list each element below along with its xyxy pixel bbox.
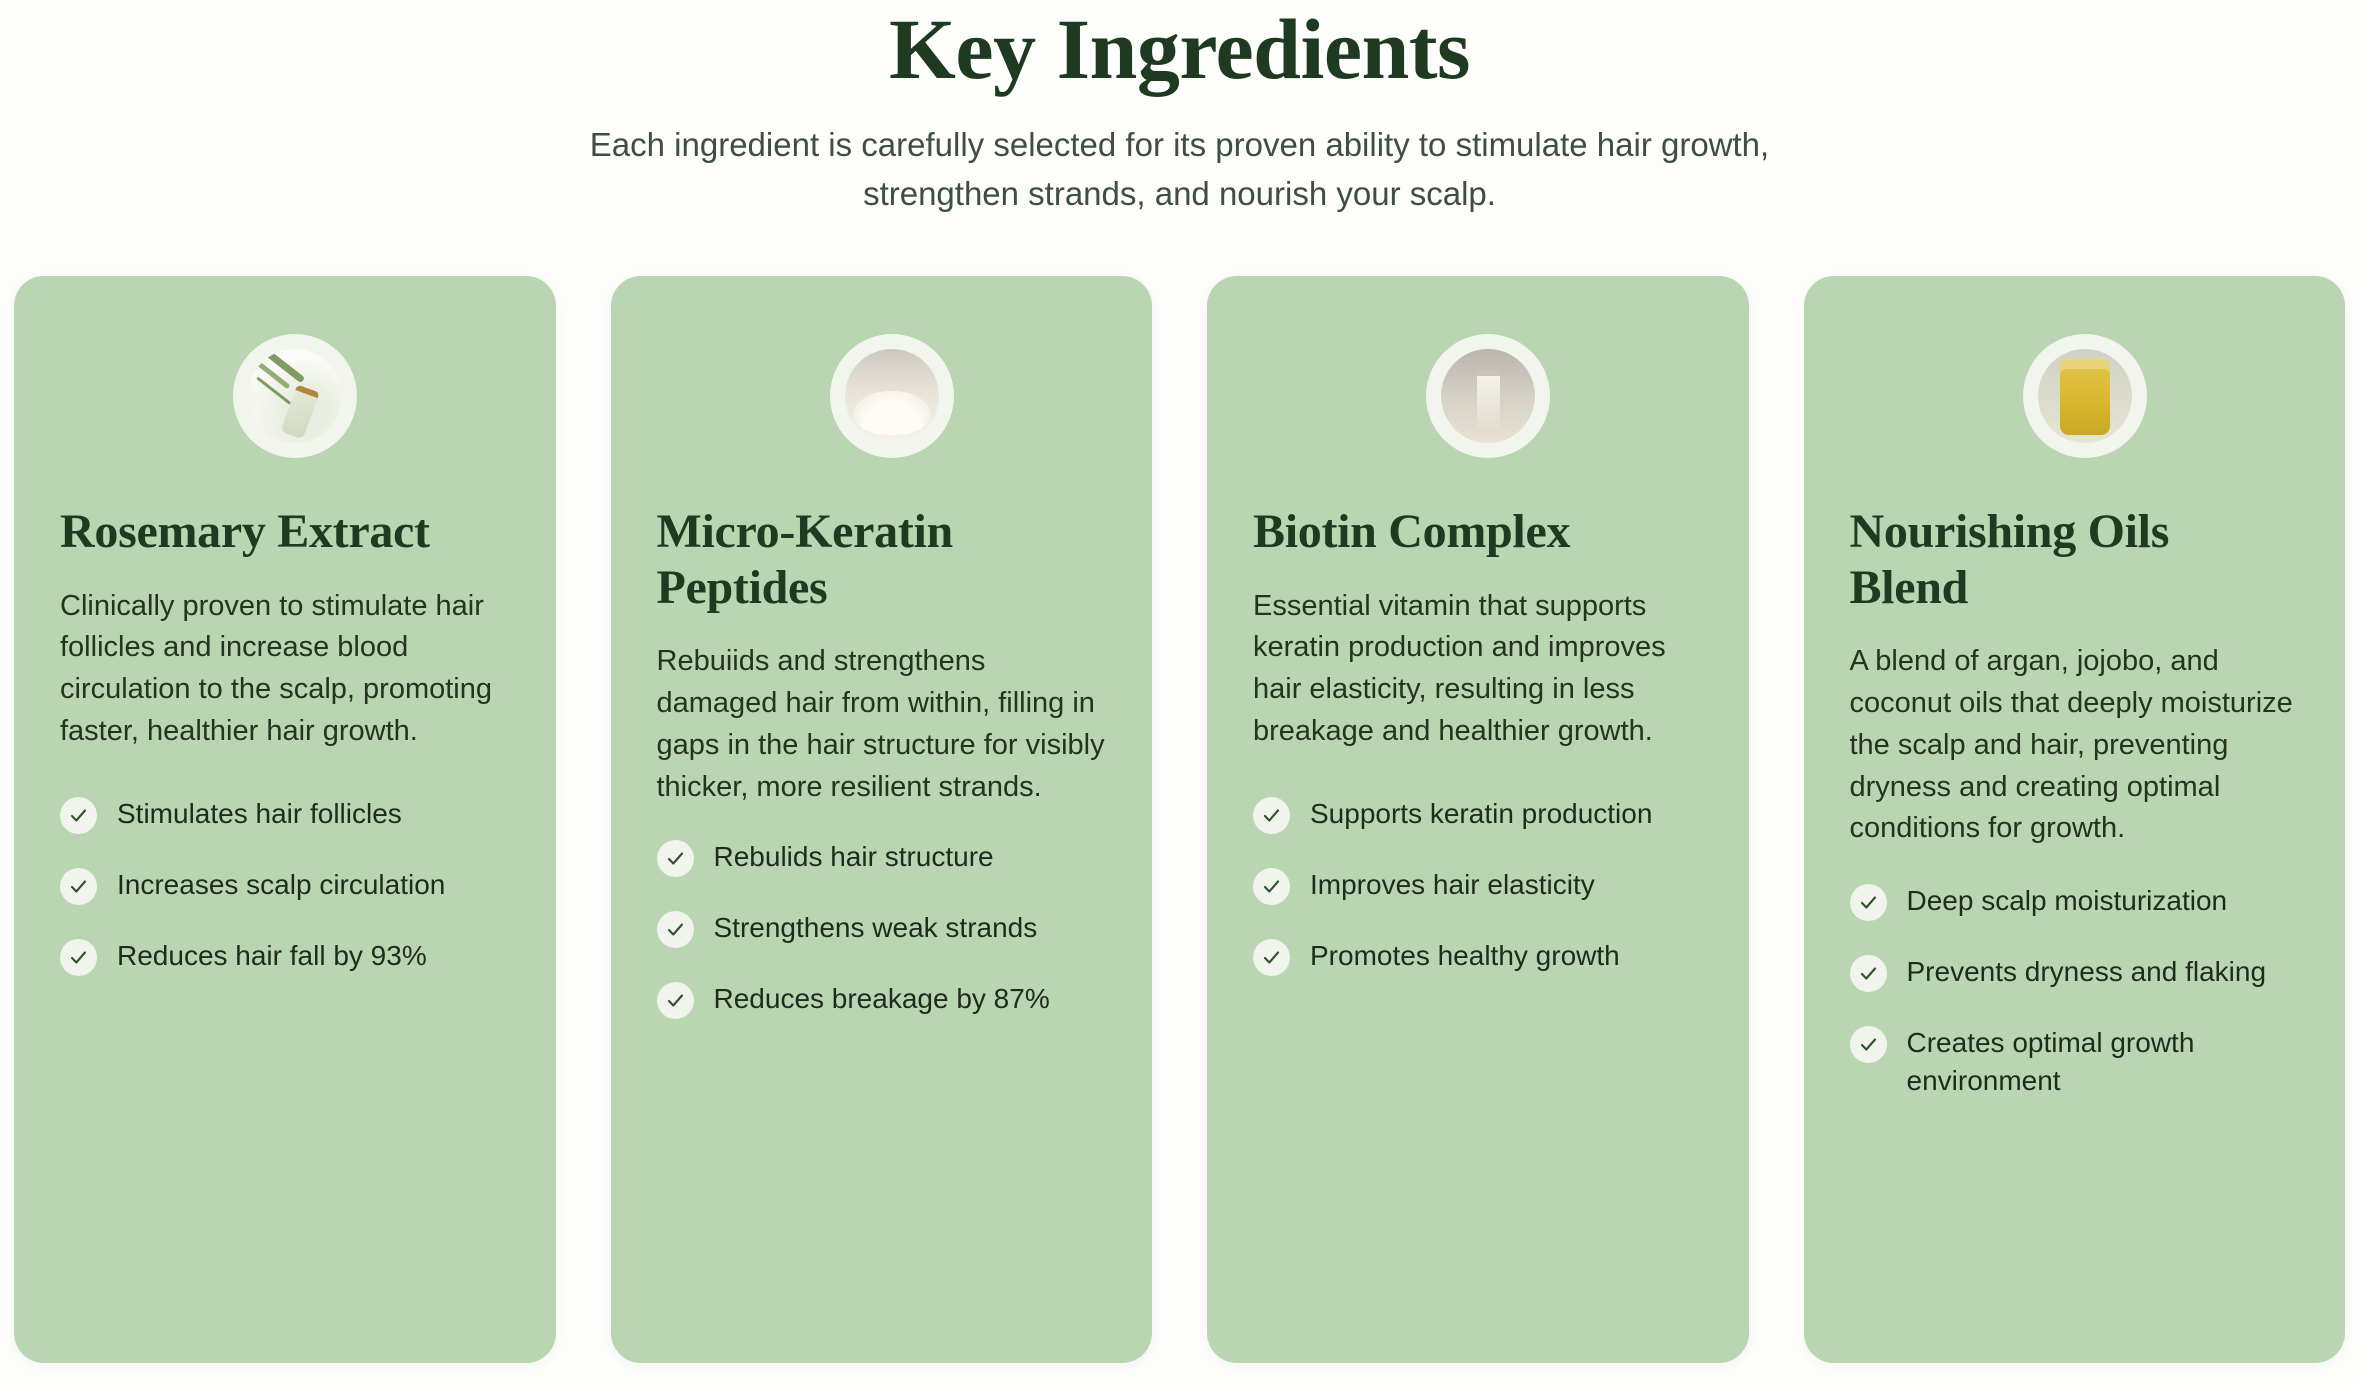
benefit-label: Rebulids hair structure	[714, 838, 994, 876]
benefit-label: Prevents dryness and flaking	[1907, 953, 2267, 991]
benefit-item: Strengthens weak strands	[657, 909, 1107, 948]
benefit-item: Creates optimal growth environment	[1850, 1024, 2300, 1100]
check-icon	[1850, 1026, 1887, 1063]
benefit-list: Deep scalp moisturization Prevents dryne…	[1850, 882, 2300, 1100]
benefit-item: Promotes healthy growth	[1253, 937, 1703, 976]
benefit-item: Deep scalp moisturization	[1850, 882, 2300, 921]
check-icon	[1253, 797, 1290, 834]
benefit-list: Rebulids hair structure Strengthens weak…	[657, 838, 1107, 1019]
ingredient-title: Biotin Complex	[1253, 504, 1703, 560]
benefit-label: Supports keratin production	[1310, 795, 1652, 833]
ingredient-title: Nourishing Oils Blend	[1850, 504, 2300, 615]
check-icon	[1253, 868, 1290, 905]
benefit-item: Increases scalp circulation	[60, 866, 510, 905]
rosemary-sprig-icon	[248, 349, 342, 443]
benefit-label: Strengthens weak strands	[714, 909, 1038, 947]
check-icon	[657, 911, 694, 948]
ingredient-card[interactable]: Biotin Complex Essential vitamin that su…	[1207, 276, 1749, 1363]
check-icon	[60, 797, 97, 834]
benefit-item: Supports keratin production	[1253, 795, 1703, 834]
benefit-label: Promotes healthy growth	[1310, 937, 1620, 975]
ingredient-description: Essential vitamin that supports keratin …	[1253, 586, 1703, 753]
benefit-item: Reduces breakage by 87%	[657, 980, 1107, 1019]
benefit-item: Stimulates hair follicles	[60, 795, 510, 834]
ingredients-section: Key Ingredients Each ingredient is caref…	[0, 0, 2359, 1385]
ingredient-title: Micro-Keratin Peptides	[657, 504, 1107, 615]
benefit-label: Stimulates hair follicles	[117, 795, 402, 833]
ingredient-icon-badge	[2023, 334, 2147, 458]
check-icon	[60, 939, 97, 976]
check-icon	[657, 840, 694, 877]
benefit-list: Supports keratin production Improves hai…	[1253, 795, 1703, 976]
benefit-item: Rebulids hair structure	[657, 838, 1107, 877]
ingredient-title: Rosemary Extract	[60, 504, 510, 560]
benefit-item: Reduces hair fall by 93%	[60, 937, 510, 976]
ingredient-card-grid: Rosemary Extract Clinically proven to st…	[14, 276, 2345, 1363]
benefit-label: Reduces breakage by 87%	[714, 980, 1050, 1018]
benefit-item: Prevents dryness and flaking	[1850, 953, 2300, 992]
page-title: Key Ingredients	[0, 4, 2359, 95]
ingredient-icon-badge	[1426, 334, 1550, 458]
ingredient-icon-badge	[233, 334, 357, 458]
ingredient-description: Clinically proven to stimulate hair foll…	[60, 586, 510, 753]
benefit-label: Improves hair elasticity	[1310, 866, 1595, 904]
ingredient-card[interactable]: Micro-Keratin Peptides Rebuiids and stre…	[611, 276, 1153, 1363]
ingredient-card[interactable]: Rosemary Extract Clinically proven to st…	[14, 276, 556, 1363]
ingredient-description: A blend of argan, jojobo, and coconut oi…	[1850, 641, 2300, 850]
benefit-label: Reduces hair fall by 93%	[117, 937, 427, 975]
oil-bottle-icon	[2038, 349, 2132, 443]
biotin-vial-icon	[1441, 349, 1535, 443]
section-header: Key Ingredients Each ingredient is caref…	[0, 0, 2359, 218]
benefit-label: Deep scalp moisturization	[1907, 882, 2228, 920]
ingredient-description: Rebuiids and strengthens damaged hair fr…	[657, 641, 1107, 808]
check-icon	[1850, 955, 1887, 992]
ingredient-icon-badge	[830, 334, 954, 458]
benefit-label: Creates optimal growth environment	[1907, 1024, 2300, 1100]
benefit-label: Increases scalp circulation	[117, 866, 445, 904]
benefit-list: Stimulates hair follicles Increases scal…	[60, 795, 510, 976]
check-icon	[1253, 939, 1290, 976]
check-icon	[657, 982, 694, 1019]
check-icon	[60, 868, 97, 905]
ingredient-card[interactable]: Nourishing Oils Blend A blend of argan, …	[1804, 276, 2346, 1363]
keratin-powder-icon	[845, 349, 939, 443]
benefit-item: Improves hair elasticity	[1253, 866, 1703, 905]
section-subtitle: Each ingredient is carefully selected fo…	[535, 121, 1825, 218]
check-icon	[1850, 884, 1887, 921]
